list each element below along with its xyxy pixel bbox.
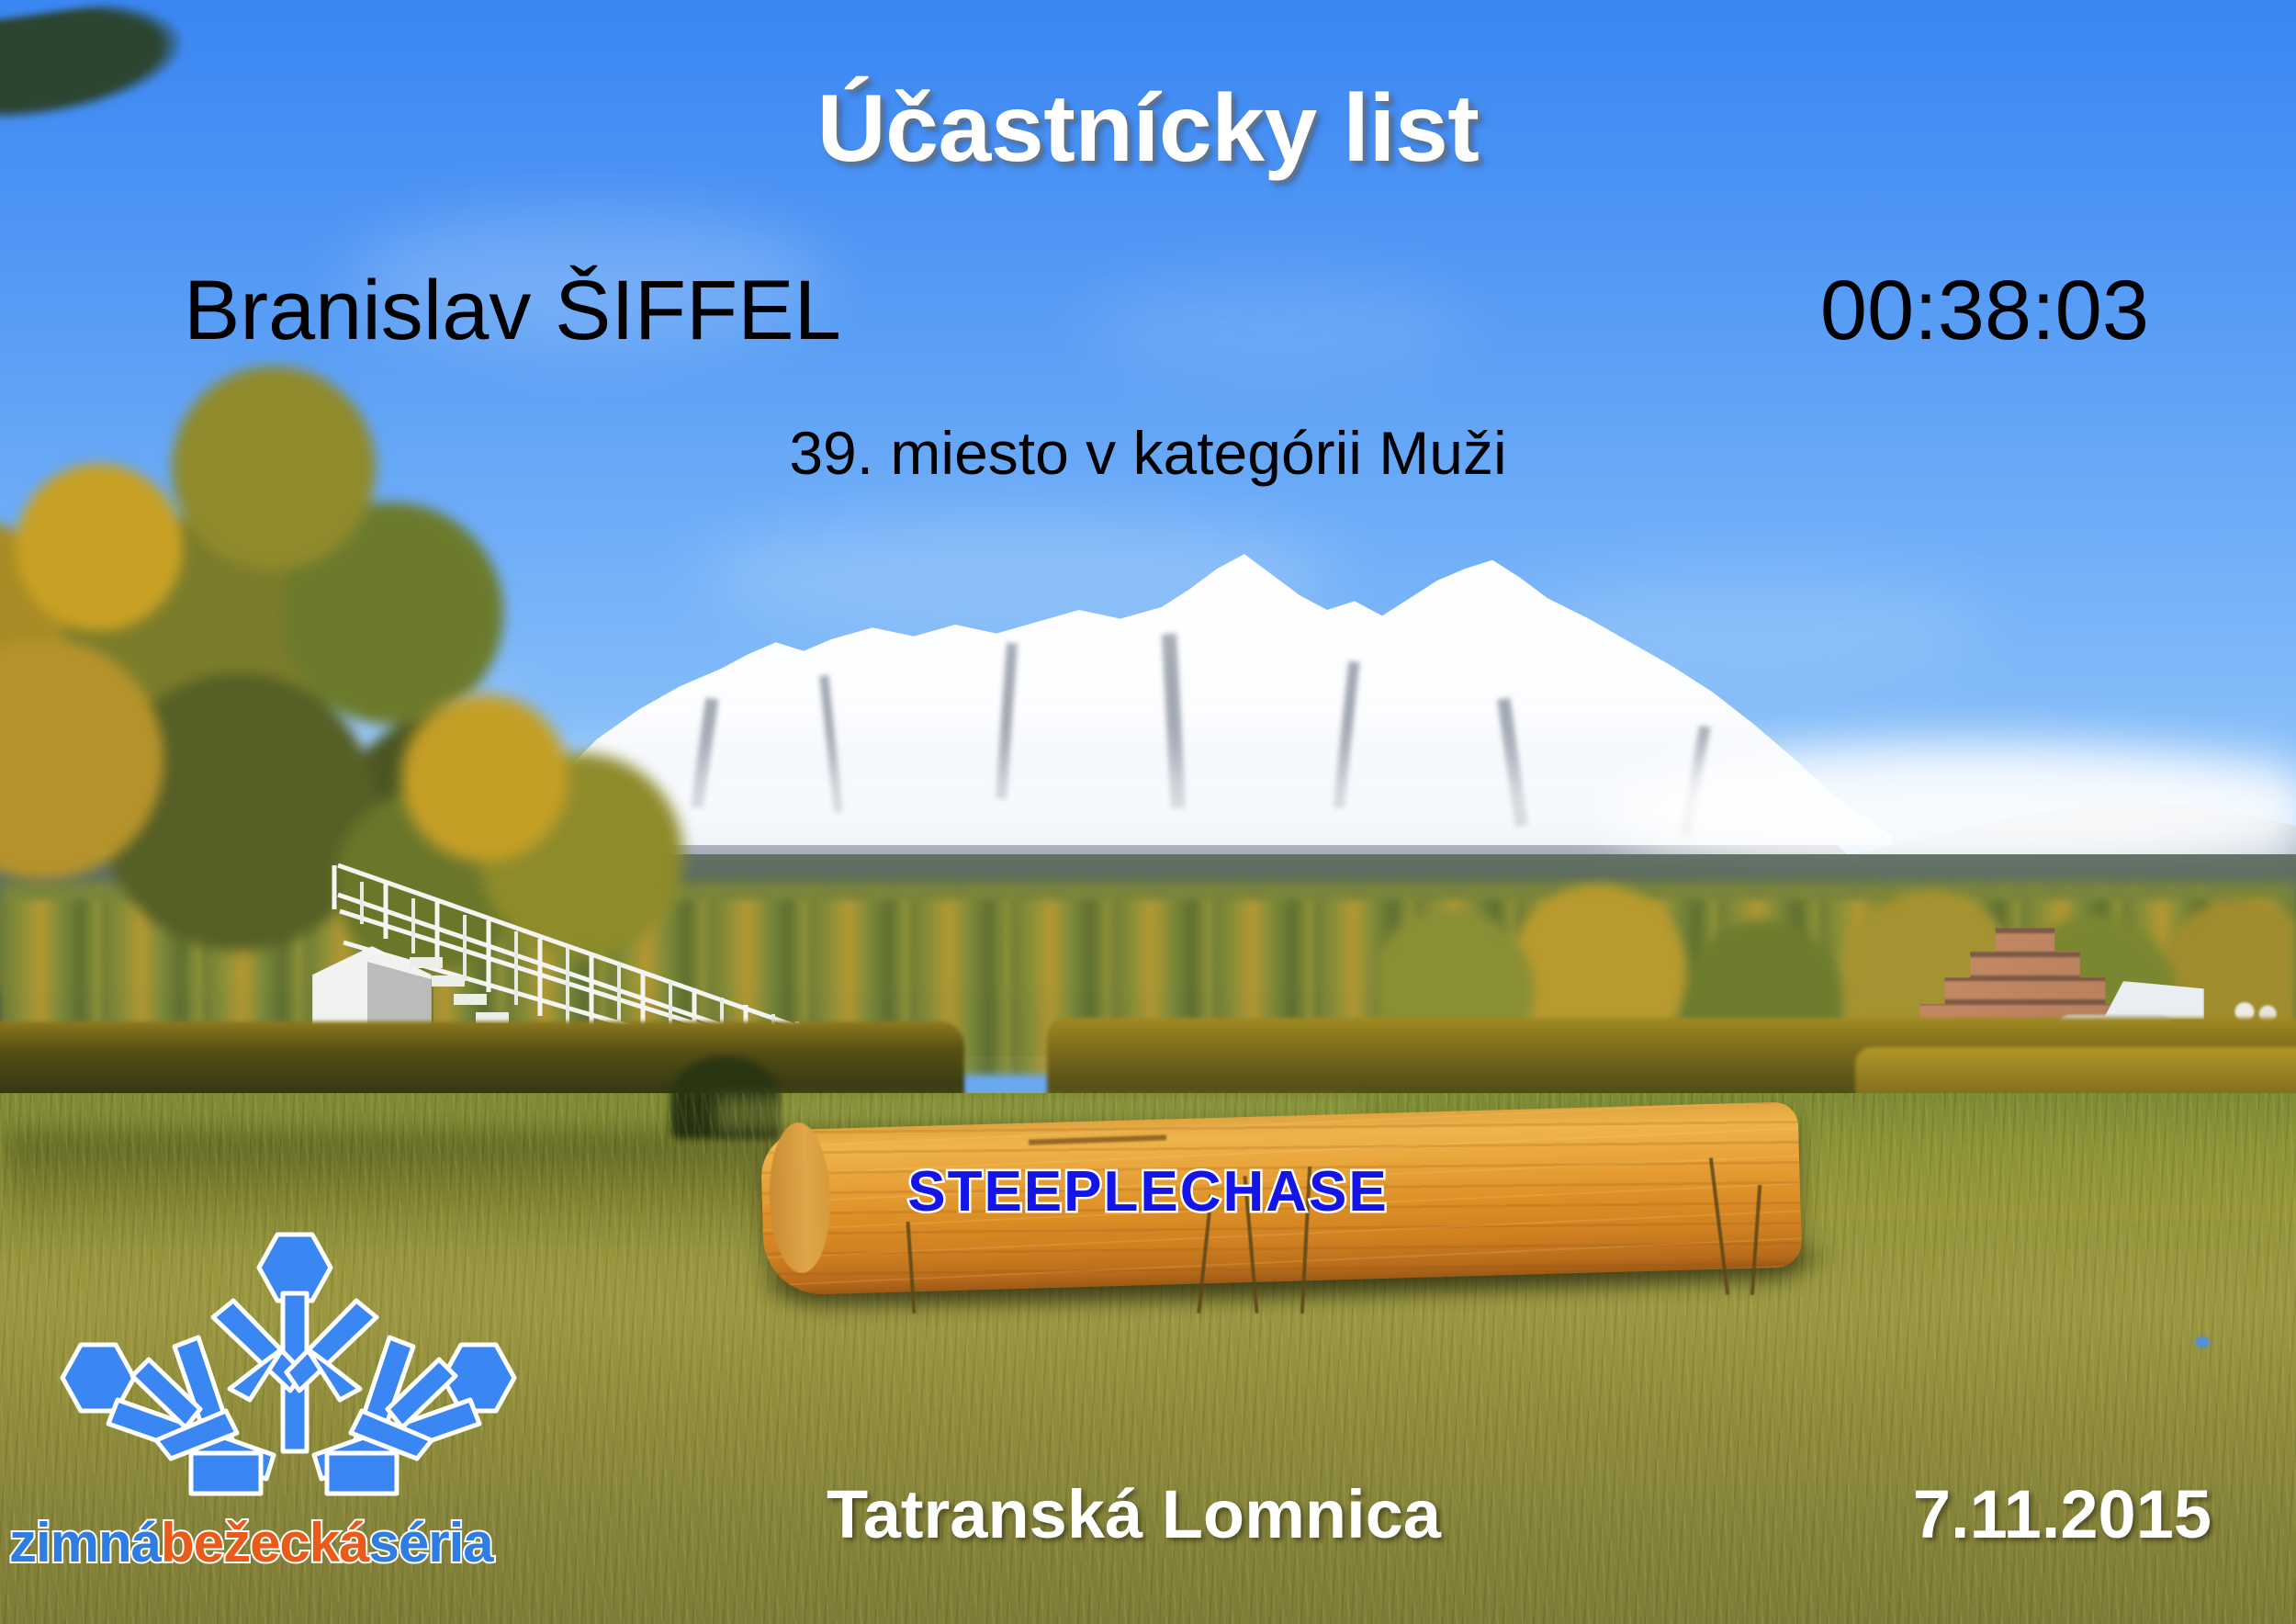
runner-finish-time: 00:38:03 (1820, 268, 2149, 353)
runner-result-row: Branislav ŠIFFEL 00:38:03 (184, 268, 2149, 353)
cloud-wisp (1515, 570, 1993, 680)
poster-title: Účastnícky list (0, 81, 2296, 176)
event-location: Tatranská Lomnica (827, 1481, 1441, 1549)
logo-word-seria: séria (369, 1512, 493, 1573)
runner-placement: 39. miesto v kategórii Muži (0, 423, 2296, 483)
runner-name: Branislav ŠIFFEL (184, 268, 841, 353)
logo-word-zimna: zimná (9, 1512, 161, 1573)
participant-certificate-poster: Účastnícky list Branislav ŠIFFEL 00:38:0… (0, 0, 2296, 1624)
obstacle-label: STEEPLECHASE (0, 1159, 2296, 1224)
series-logo-text: zimnábežeckáséria (9, 1511, 493, 1574)
cloud-wisp (698, 514, 1341, 634)
blue-flower-speck (2195, 1336, 2210, 1348)
snowflake-icon (37, 1229, 551, 1514)
logo-word-bezecka: bežecká (161, 1512, 369, 1573)
event-date: 7.11.2015 (1913, 1481, 2212, 1549)
